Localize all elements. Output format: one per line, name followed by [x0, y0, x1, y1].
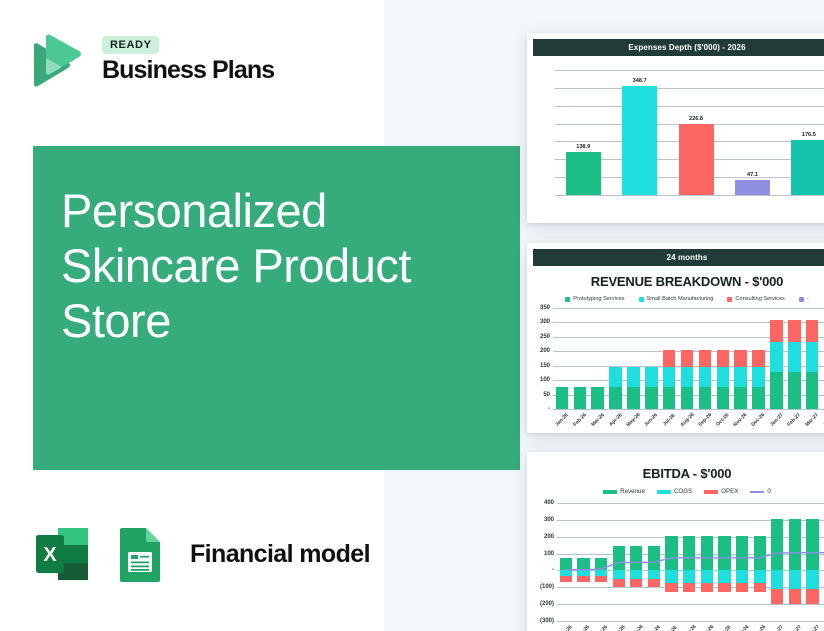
x-axis-tick: Nov-26 [733, 412, 749, 428]
x-slot: Jun-26 [642, 417, 660, 423]
bar-segment [663, 387, 676, 409]
y-axis-tick: 400 [544, 500, 557, 506]
x-slot: Apr-26 [607, 417, 625, 423]
x-axis-tick: Oct-26 [717, 624, 732, 631]
y-axis-tick: (200) [540, 601, 557, 607]
x-axis-tick: Apr-26 [608, 412, 623, 427]
y-axis-tick: 100 [540, 377, 553, 383]
legend-swatch [565, 297, 570, 302]
bar-slot: 176.5 [781, 70, 824, 195]
bar-segment [752, 387, 765, 409]
x-axis-tick: Jun-26 [643, 412, 659, 428]
bar-slot [732, 308, 750, 409]
bar-slot [785, 308, 803, 409]
y-axis-tick: 200 [544, 534, 557, 540]
bar-segment [681, 387, 694, 409]
x-axis-tick: Feb-26 [576, 624, 592, 631]
x-slot: Jan-26 [553, 417, 571, 423]
bar-slot: 348.7 [611, 70, 667, 195]
x-axis-tick: Feb-26 [572, 412, 588, 428]
y-axis-tick: 300 [540, 319, 553, 325]
google-sheets-icon [108, 522, 172, 586]
bar-slot: 226.8 [668, 70, 724, 195]
x-axis-tick: Feb-27 [786, 412, 802, 428]
bar: 226.8 [679, 124, 714, 195]
y-axis-tick: 250 [540, 334, 553, 340]
bar-stack [752, 350, 765, 409]
ready-badge: READY [102, 36, 159, 54]
legend-label: Prototyping Services [573, 296, 624, 302]
bar-segment [663, 367, 676, 387]
bar-segment [556, 387, 569, 409]
x-axis-tick: Jun-26 [646, 624, 662, 631]
microsoft-excel-icon: X [30, 522, 94, 586]
bar-segment [770, 372, 783, 409]
bar-slot [768, 308, 786, 409]
bar-segment [770, 320, 783, 341]
x-axis-tick: Aug-26 [679, 412, 695, 428]
x-slot: May-26 [625, 417, 643, 423]
footer-label: Financial model [190, 540, 370, 569]
bar-segment [806, 320, 819, 341]
bar-stack [574, 387, 587, 409]
x-axis-tick: Jan-27 [769, 412, 784, 427]
legend-item: OPEX [704, 488, 738, 495]
x-slot: Mar-27 [803, 417, 821, 423]
bar-segment [645, 367, 658, 387]
bar-stack [717, 350, 730, 409]
x-axis-tick: Feb-27 [787, 624, 803, 631]
chart-header-revenue: 24 months [533, 249, 824, 266]
y-axis-tick: 150 [540, 363, 553, 369]
brand-header: READY Business Plans [24, 28, 274, 92]
bar-slot [750, 308, 768, 409]
bar-value-label: 176.5 [802, 132, 816, 138]
gridline [553, 409, 824, 410]
bar-segment [681, 367, 694, 387]
chart-legend-ebitda: RevenueCOGSOPEX0 [527, 488, 824, 495]
bar-stack [556, 387, 569, 409]
bar: 176.5 [791, 140, 824, 195]
x-axis-tick: Jul-26 [662, 413, 676, 427]
bar-segment [609, 367, 622, 387]
y-axis-tick: 200 [540, 348, 553, 354]
legend-label: Revenue [620, 488, 645, 495]
bar-slot [625, 308, 643, 409]
legend-label: OPEX [721, 488, 738, 495]
x-slot: Jul-26 [660, 417, 678, 423]
legend-line-swatch [750, 491, 764, 493]
x-slot: Feb-26 [571, 417, 589, 423]
bar-segment [752, 367, 765, 387]
chart-legend-revenue: Prototyping ServicesSmall Batch Manufact… [527, 296, 824, 302]
chart-zero-line [557, 503, 824, 621]
legend-item: COGS [657, 488, 692, 495]
bar-segment [734, 350, 747, 367]
bar-segment [717, 367, 730, 387]
x-axis-tick: Sep-26 [699, 624, 715, 631]
page-title: Personalized Skincare Product Store [61, 184, 491, 349]
bar-segment [770, 342, 783, 372]
bar-stack [734, 350, 747, 409]
bar-slot [553, 308, 571, 409]
x-axis-tick: Jul-26 [664, 625, 678, 631]
chart-plot-revenue: 35030025020015010050- [553, 308, 824, 409]
bar-segment [734, 367, 747, 387]
bar-stack [788, 320, 801, 409]
bar-slot [607, 308, 625, 409]
chart-xaxis-revenue: Jan-26Feb-26Mar-26Apr-26May-26Jun-26Jul-… [553, 417, 824, 423]
x-slot: Feb-27 [785, 417, 803, 423]
bar-slot [678, 308, 696, 409]
legend-swatch [657, 490, 671, 494]
y-axis-tick: (300) [540, 618, 557, 624]
legend-swatch [704, 490, 718, 494]
legend-label: 0 [767, 488, 770, 495]
legend-item: Revenue [603, 488, 645, 495]
x-axis-tick: Nov-26 [734, 624, 750, 631]
bar-segment [788, 320, 801, 341]
footer-row: X Financial model [30, 522, 370, 586]
y-axis-tick: (100) [540, 584, 557, 590]
y-axis-tick: 350 [540, 305, 553, 311]
bar-segment [806, 372, 819, 409]
bar-slot [696, 308, 714, 409]
x-axis-tick: Mar-26 [593, 624, 609, 631]
x-axis-tick: Jan-26 [558, 624, 573, 631]
bar-stack [591, 387, 604, 409]
chart-header-expenses: Expenses Depth ($'000) - 2026 [533, 39, 824, 56]
bar-slot: 138.9 [555, 70, 611, 195]
x-slot: Aug-26 [678, 417, 696, 423]
bar-segment [663, 350, 676, 367]
bar-segment [788, 342, 801, 372]
bar-slot: 47.1 [724, 70, 780, 195]
x-axis-tick: Dec-26 [751, 412, 767, 428]
x-axis-tick: Apr-26 [611, 624, 626, 631]
bar-value-label: 138.9 [576, 144, 590, 150]
bar-segment [717, 387, 730, 409]
bar-segment [806, 342, 819, 372]
x-axis-tick: Mar-27 [804, 412, 820, 428]
x-axis-tick: Dec-26 [752, 624, 768, 631]
legend-item: Prototyping Services [565, 296, 624, 302]
legend-label: - [807, 296, 809, 302]
bar-segment [699, 350, 712, 367]
bar-stack [627, 367, 640, 409]
gridline [555, 195, 824, 196]
bar-stack [645, 367, 658, 409]
bar-segment [645, 387, 658, 409]
bar-segment [591, 387, 604, 409]
y-axis-tick: 50 [543, 392, 553, 398]
bar: 138.9 [566, 152, 601, 195]
x-axis-tick: May-26 [628, 624, 644, 631]
x-axis-tick: Oct-26 [715, 412, 730, 427]
bar-stack [699, 350, 712, 409]
x-axis-tick: Aug-26 [681, 624, 697, 631]
bar-slot [660, 308, 678, 409]
legend-swatch [799, 297, 804, 302]
chart-card-ebitda: EBITDA - $'000 RevenueCOGSOPEX0 40030020… [527, 452, 824, 631]
legend-swatch [603, 490, 617, 494]
legend-label: Small Batch Manufacturing [647, 296, 714, 302]
x-axis-tick: Jan-26 [554, 412, 569, 427]
bar-slot [642, 308, 660, 409]
x-slot: Dec-26 [750, 417, 768, 423]
bar-stack [681, 350, 694, 409]
bar-segment [788, 372, 801, 409]
bar-segment [627, 367, 640, 387]
brand-text-block: READY Business Plans [102, 36, 274, 83]
bar-segment [609, 387, 622, 409]
bar-segment [681, 350, 694, 367]
bar-slot [803, 308, 821, 409]
legend-label: COGS [674, 488, 692, 495]
x-slot: Oct-26 [714, 417, 732, 423]
svg-text:X: X [43, 544, 57, 566]
bar-segment [627, 387, 640, 409]
bar-slot [571, 308, 589, 409]
bar: 47.1 [735, 180, 770, 195]
x-axis-tick: Mar-27 [805, 624, 821, 631]
bar-stack [806, 320, 819, 409]
chart-plot-ebitda: 400300200100-(100)(200)(300) [557, 503, 824, 621]
bar: 348.7 [622, 86, 657, 195]
bar-slot [714, 308, 732, 409]
bar-segment [699, 387, 712, 409]
bar-stack [770, 320, 783, 409]
hero-panel: Personalized Skincare Product Store [33, 146, 520, 470]
bar-value-label: 47.1 [747, 172, 758, 178]
x-axis-tick: Sep-26 [697, 412, 713, 428]
chart-bars-revenue [553, 308, 824, 409]
legend-item: Small Batch Manufacturing [639, 296, 714, 302]
x-slot: Mar-26 [589, 417, 607, 423]
chart-title-ebitda: EBITDA - $'000 [527, 466, 824, 481]
legend-swatch [727, 297, 732, 302]
bar-value-label: 226.8 [689, 116, 703, 122]
y-axis-tick: 300 [544, 517, 557, 523]
legend-item: 0 [750, 488, 770, 495]
y-axis-tick: 100 [544, 551, 557, 557]
bar-segment [734, 387, 747, 409]
play-triangle-logo-icon [24, 28, 88, 92]
bar-segment [699, 367, 712, 387]
bar-stack [663, 350, 676, 409]
chart-title-revenue: REVENUE BREAKDOWN - $'000 [527, 274, 824, 289]
x-axis-tick: Mar-26 [590, 412, 606, 428]
chart-plot-expenses: 138.9348.7226.847.1176.5 [555, 70, 824, 195]
brand-name: Business Plans [102, 57, 274, 83]
x-slot: Jan-27 [768, 417, 786, 423]
bar-segment [717, 350, 730, 367]
gridline [557, 621, 824, 622]
legend-item: - [799, 296, 809, 302]
legend-swatch [639, 297, 644, 302]
x-axis-tick: Jan-27 [770, 624, 785, 631]
bar-slot [589, 308, 607, 409]
bar-stack [609, 367, 622, 409]
bar-value-label: 348.7 [633, 78, 647, 84]
bar-segment [752, 350, 765, 367]
chart-card-expenses: Expenses Depth ($'000) - 2026 138.9348.7… [527, 33, 824, 223]
x-slot: Nov-26 [732, 417, 750, 423]
chart-bars-expenses: 138.9348.7226.847.1176.5 [555, 70, 824, 195]
x-axis-tick: May-26 [625, 412, 641, 428]
legend-item: Consulting Services [727, 296, 784, 302]
bar-segment [574, 387, 587, 409]
chart-card-revenue: 24 months REVENUE BREAKDOWN - $'000 Prot… [527, 243, 824, 433]
legend-label: Consulting Services [735, 296, 784, 302]
x-slot: Sep-26 [696, 417, 714, 423]
